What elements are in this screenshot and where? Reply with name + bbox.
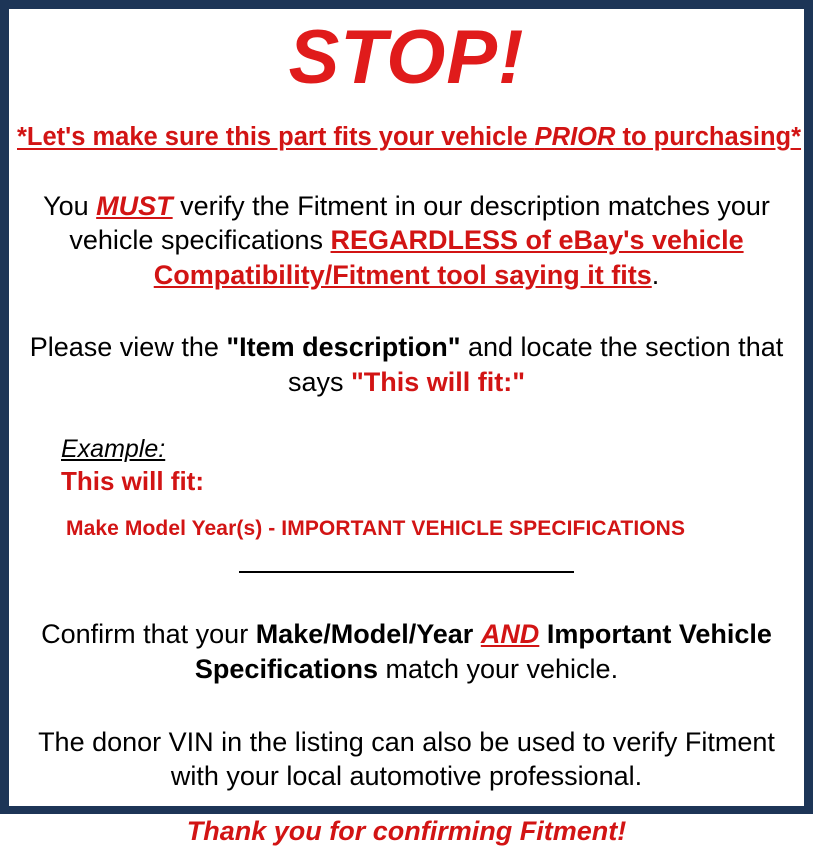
and-emphasis: AND [481, 619, 540, 649]
notice-content: STOP! *Let's make sure this part fits yo… [9, 9, 804, 806]
must-text-part1: You [43, 191, 96, 221]
example-block: Example: This will fit: Make Model Year(… [17, 435, 796, 541]
stop-title: STOP! [17, 9, 796, 100]
divider-wrap [17, 563, 796, 581]
must-emphasis: MUST [96, 191, 173, 221]
must-text-part3: . [652, 260, 660, 290]
subtitle-text-after: to purchasing* [615, 123, 801, 151]
this-will-fit-label: "This will fit:" [351, 367, 525, 397]
subtitle-emphasis-prior: PRIOR [535, 123, 616, 151]
paragraph-confirm-match: Confirm that your Make/Model/Year AND Im… [17, 617, 796, 686]
example-label-row: Example: [61, 435, 796, 464]
confirm-space-2 [539, 619, 547, 649]
paragraph-view-description: Please view the "Item description" and l… [17, 330, 796, 399]
paragraph-donor-vin: The donor VIN in the listing can also be… [17, 725, 796, 794]
fitment-notice-card: STOP! *Let's make sure this part fits yo… [0, 0, 813, 814]
view-text-part1: Please view the [30, 332, 227, 362]
section-divider [239, 571, 574, 573]
confirm-text-part1: Confirm that your [41, 619, 256, 649]
confirm-space-1 [473, 619, 481, 649]
make-model-year-label: Make/Model/Year [256, 619, 474, 649]
example-label: Example: [61, 435, 165, 464]
subtitle-text-before: *Let's make sure this part fits your veh… [17, 123, 535, 151]
subtitle-verify-fitment: *Let's make sure this part fits your veh… [17, 122, 796, 153]
confirm-text-part2: match your vehicle. [378, 654, 618, 684]
thank-you-line: Thank you for confirming Fitment! [17, 816, 796, 847]
example-spec-line: Make Model Year(s) - IMPORTANT VEHICLE S… [61, 517, 796, 541]
paragraph-must-verify: You MUST verify the Fitment in our descr… [17, 189, 796, 293]
item-description-label: "Item description" [226, 332, 460, 362]
example-fit-heading: This will fit: [61, 466, 796, 497]
